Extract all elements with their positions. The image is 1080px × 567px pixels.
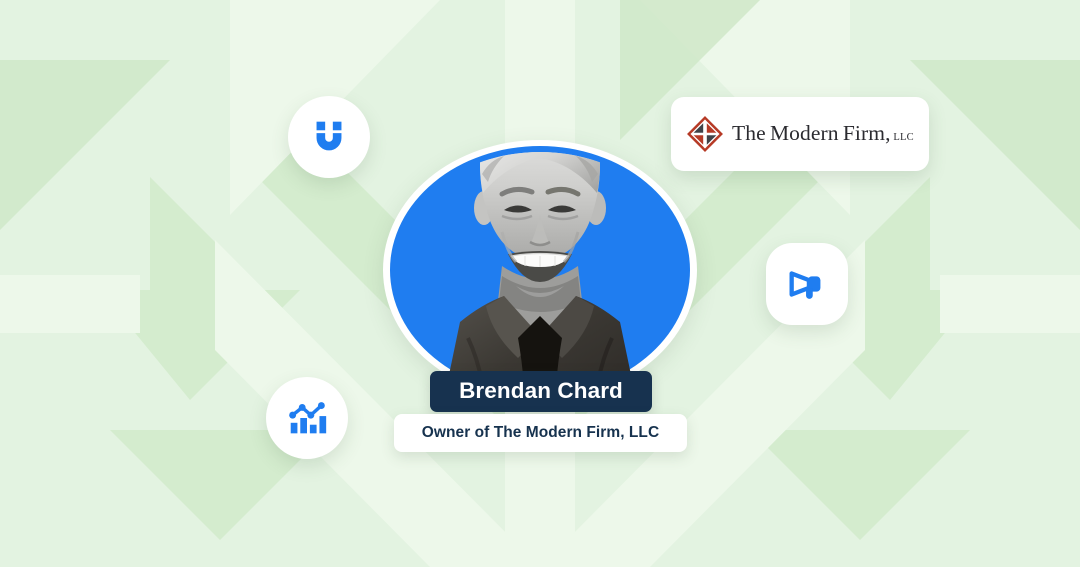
avatar-portrait: [390, 90, 690, 406]
logo-word-modern: Modern: [770, 121, 839, 145]
bar-chart-trend-icon-badge: [266, 377, 348, 459]
logo-word-llc: LLC: [893, 132, 913, 143]
person-name-plate: Brendan Chard: [430, 371, 652, 412]
promo-banner: The Modern Firm, LLC Brendan Chard Owner…: [0, 0, 1080, 567]
magnet-icon: [306, 114, 352, 160]
logo-word-the: The: [732, 121, 766, 145]
megaphone-icon-badge: [766, 243, 848, 325]
modern-firm-logo-text: The Modern Firm, LLC: [732, 123, 914, 145]
bar-chart-trend-icon: [284, 395, 330, 441]
logo-word-firm: Firm,: [843, 121, 891, 145]
modern-firm-logo-card: The Modern Firm, LLC: [671, 97, 929, 171]
magnet-icon-badge: [288, 96, 370, 178]
person-title: Owner of The Modern Firm, LLC: [422, 425, 659, 441]
avatar: [383, 140, 697, 400]
person-title-plate: Owner of The Modern Firm, LLC: [394, 414, 687, 452]
megaphone-icon: [784, 261, 830, 307]
modern-firm-diamond-logo-icon: [687, 116, 723, 152]
avatar-disc: [390, 146, 690, 394]
person-name: Brendan Chard: [459, 380, 623, 403]
